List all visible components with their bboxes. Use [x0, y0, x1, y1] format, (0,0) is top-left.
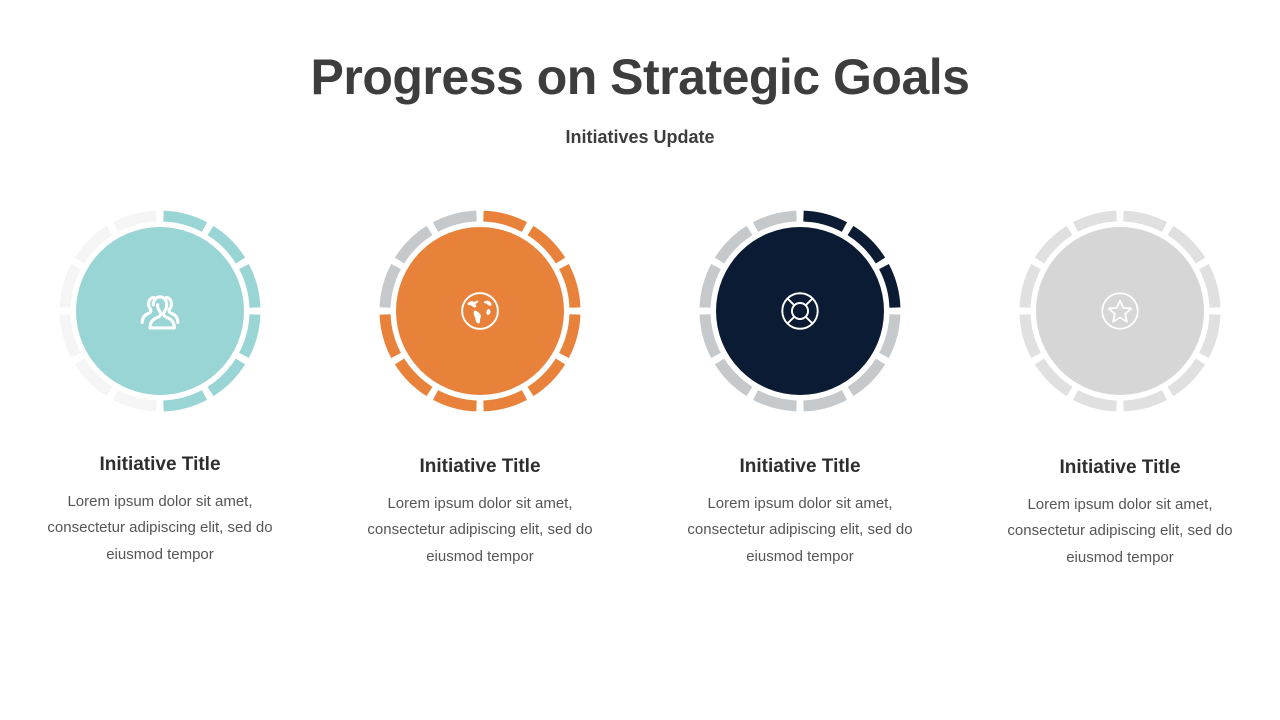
ring-segment — [705, 314, 716, 355]
ring-segment — [1123, 216, 1164, 227]
progress-ring-3 — [695, 206, 905, 416]
icon-disc — [396, 227, 564, 395]
card-text-block: Initiative Title Lorem ipsum dolor sit a… — [10, 454, 310, 568]
page-subtitle: Initiatives Update — [565, 127, 714, 148]
ring-segment — [65, 314, 76, 355]
ring-segment — [756, 395, 797, 406]
ring-segment — [483, 216, 524, 227]
ring-segment — [385, 314, 396, 355]
icon-disc — [716, 227, 884, 395]
ring-segment — [244, 314, 255, 355]
progress-ring-4 — [1015, 206, 1225, 416]
card-text-block: Initiative Title Lorem ipsum dolor sit a… — [650, 456, 950, 570]
ring-segment — [65, 267, 76, 308]
lifebuoy-icon — [773, 284, 827, 338]
initiative-card[interactable]: Initiative Title Lorem ipsum dolor sit a… — [640, 206, 960, 570]
initiative-card[interactable]: Initiative Title Lorem ipsum dolor sit a… — [0, 206, 320, 568]
ring-segment — [564, 267, 575, 308]
ring-segment — [436, 216, 477, 227]
ring-segment — [803, 216, 844, 227]
icon-disc — [76, 227, 244, 395]
ring-segment — [1123, 395, 1164, 406]
ring-segment — [1025, 314, 1036, 355]
ring-segment — [436, 395, 477, 406]
initiative-card[interactable]: Initiative Title Lorem ipsum dolor sit a… — [320, 206, 640, 570]
ring-segment — [1076, 395, 1117, 406]
globe-icon — [454, 285, 506, 337]
progress-ring-2 — [375, 206, 585, 416]
ring-segment — [163, 395, 204, 406]
ring-segment — [116, 395, 157, 406]
icon-disc — [1036, 227, 1204, 395]
card-description: Lorem ipsum dolor sit amet, consectetur … — [995, 492, 1245, 571]
ring-segment — [385, 267, 396, 308]
ring-segment — [483, 395, 524, 406]
card-title: Initiative Title — [1059, 457, 1180, 479]
ring-segment — [1204, 314, 1215, 355]
ring-segment — [1076, 216, 1117, 227]
card-description: Lorem ipsum dolor sit amet, consectetur … — [355, 491, 605, 570]
ring-segment — [244, 267, 255, 308]
card-title: Initiative Title — [99, 454, 220, 476]
ring-segment — [803, 395, 844, 406]
slide-root: Progress on Strategic Goals Initiatives … — [0, 0, 1280, 720]
page-title: Progress on Strategic Goals — [311, 50, 970, 105]
ring-segment — [116, 216, 157, 227]
ring-segment — [564, 314, 575, 355]
card-title: Initiative Title — [419, 456, 540, 478]
initiative-card[interactable]: Initiative Title Lorem ipsum dolor sit a… — [960, 206, 1280, 571]
ring-segment — [163, 216, 204, 227]
card-description: Lorem ipsum dolor sit amet, consectetur … — [675, 491, 925, 570]
users-icon — [128, 279, 192, 343]
ring-segment — [1025, 267, 1036, 308]
star-circle-icon — [1093, 284, 1147, 338]
ring-segment — [884, 267, 895, 308]
card-title: Initiative Title — [739, 456, 860, 478]
card-description: Lorem ipsum dolor sit amet, consectetur … — [35, 489, 285, 568]
progress-ring-1 — [55, 206, 265, 416]
ring-segment — [1204, 267, 1215, 308]
initiative-card-row: Initiative Title Lorem ipsum dolor sit a… — [0, 206, 1280, 571]
ring-segment — [756, 216, 797, 227]
card-text-block: Initiative Title Lorem ipsum dolor sit a… — [330, 456, 630, 570]
ring-segment — [705, 267, 716, 308]
ring-segment — [884, 314, 895, 355]
card-text-block: Initiative Title Lorem ipsum dolor sit a… — [970, 457, 1270, 571]
